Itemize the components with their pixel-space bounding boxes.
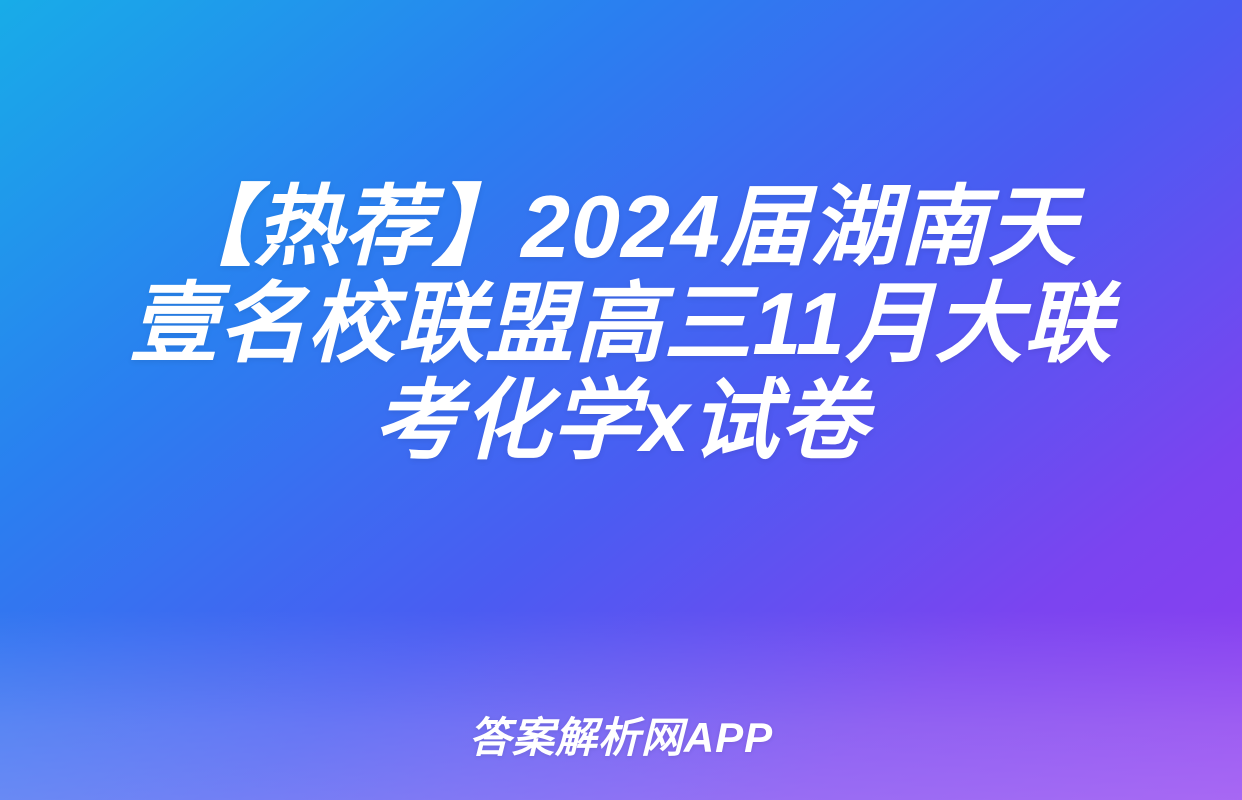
app-brand-label: 答案解析网APP (469, 714, 773, 762)
promo-banner: 【热荐】2024届湖南天 壹名校联盟高三11月大联 考化学x试卷 答案解析网AP… (0, 0, 1242, 800)
app-brand-footer: 答案解析网APP (0, 714, 1242, 762)
title-line-2: 壹名校联盟高三11月大联 (40, 275, 1202, 372)
title-line-3: 考化学x试卷 (40, 372, 1202, 469)
page-title: 【热荐】2024届湖南天 壹名校联盟高三11月大联 考化学x试卷 (0, 178, 1242, 469)
title-line-1: 【热荐】2024届湖南天 (40, 178, 1202, 275)
